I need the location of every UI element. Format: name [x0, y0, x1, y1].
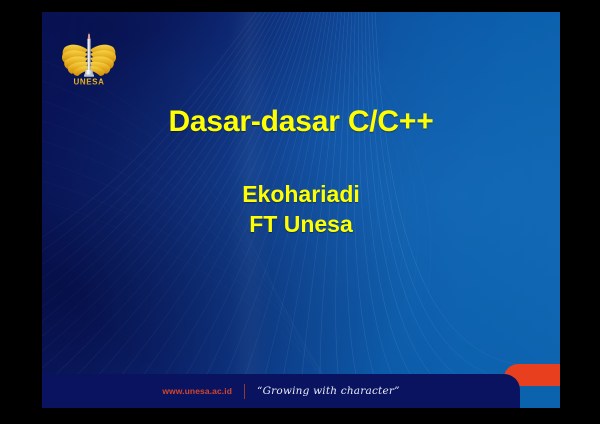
slide-subtitle: Ekohariadi FT Unesa — [42, 180, 560, 240]
site-url-text[interactable]: www.unesa.ac.id — [162, 386, 232, 396]
screen-canvas: UNESA Dasar-dasar C/C++ Ekohariadi FT Un… — [0, 0, 600, 424]
unesa-logo: UNESA — [58, 26, 120, 88]
logo-right-wing — [90, 45, 116, 76]
footer-content: www.unesa.ac.id “Growing with character” — [42, 374, 520, 408]
logo-wordmark-text: UNESA — [73, 78, 104, 87]
slide-title: Dasar-dasar C/C++ — [42, 106, 560, 138]
presentation-slide: UNESA Dasar-dasar C/C++ Ekohariadi FT Un… — [42, 12, 560, 408]
subtitle-line-author: Ekohariadi — [42, 180, 560, 210]
tagline-text: “Growing with character” — [257, 385, 400, 397]
footer-divider — [244, 384, 245, 399]
logo-left-wing — [62, 45, 88, 76]
subtitle-line-affiliation: FT Unesa — [42, 210, 560, 240]
